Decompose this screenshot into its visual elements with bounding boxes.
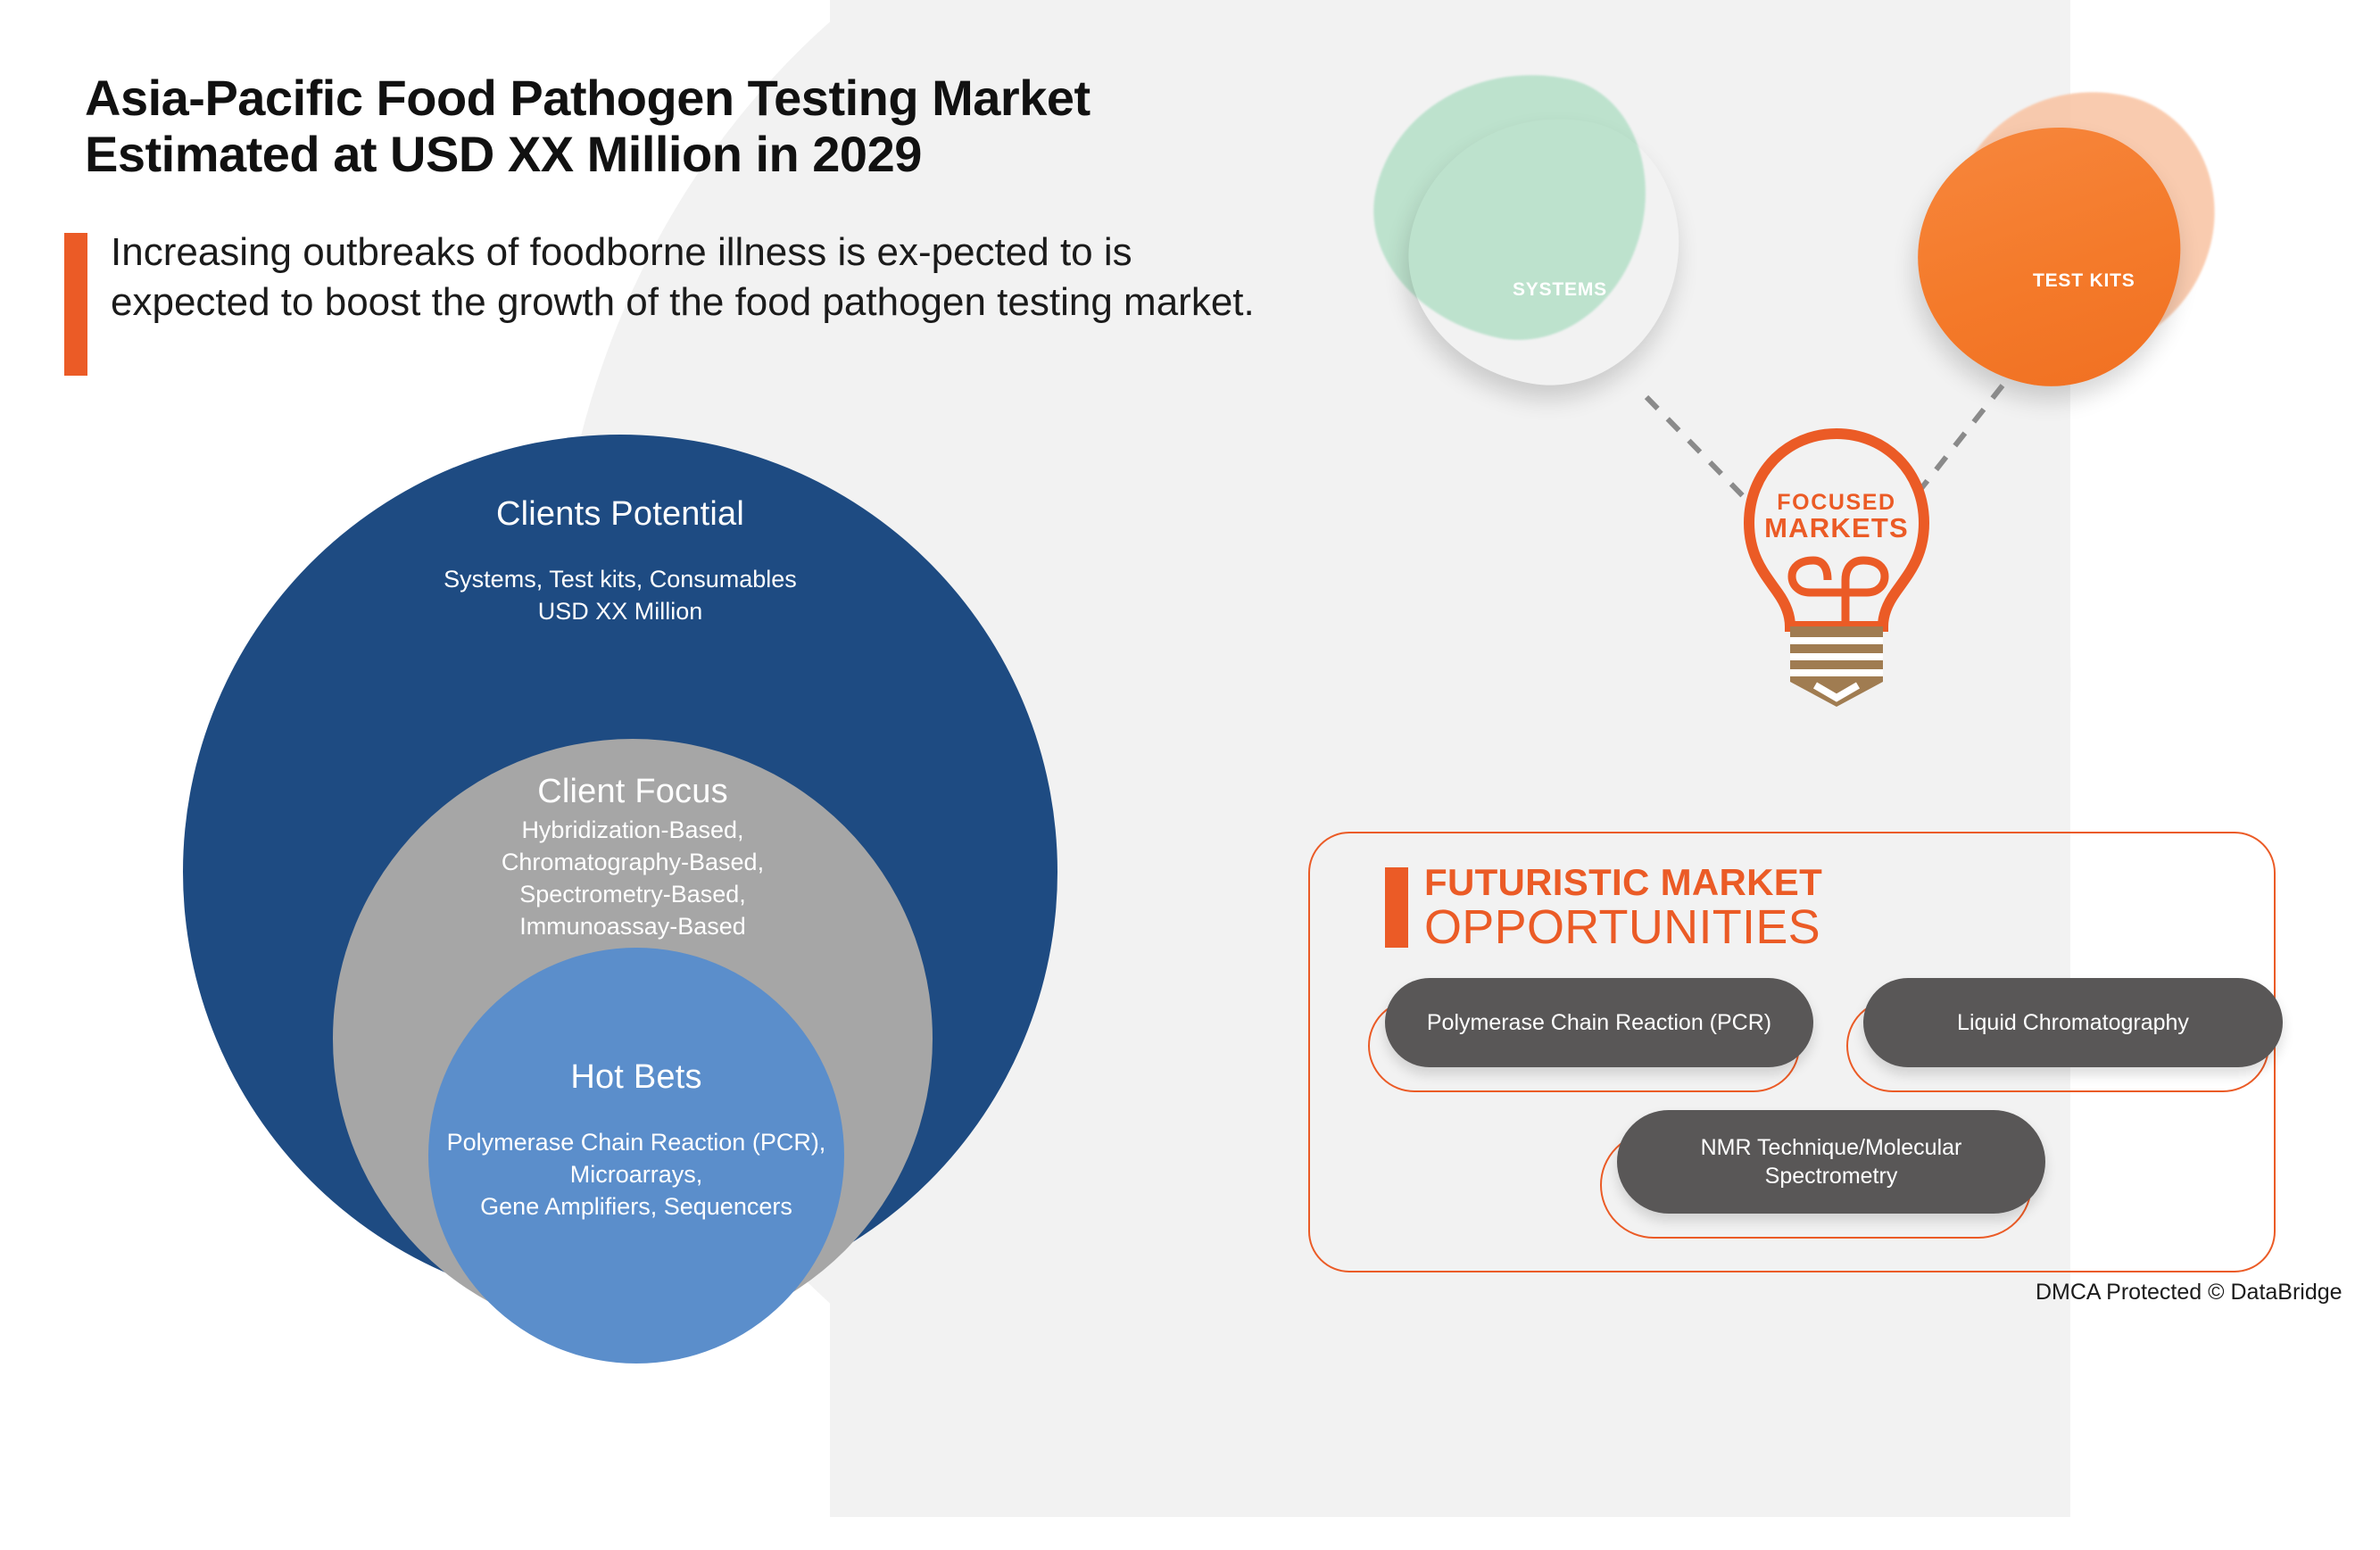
futuristic-opportunities-header: FUTURISTIC MARKET OPPORTUNITIES xyxy=(1385,864,1822,951)
pill-liquid-chromatography-label: Liquid Chromatography xyxy=(1957,1008,2189,1038)
clients-potential-label: Clients Potential Systems, Test kits, Co… xyxy=(183,495,1057,628)
footer-copyright: DMCA Protected © DataBridge xyxy=(2036,1280,2343,1305)
infographic-canvas: Asia-Pacific Food Pathogen Testing Marke… xyxy=(0,0,2380,1339)
pill-nmr-label: NMR Technique/MolecularSpectrometry xyxy=(1701,1133,1962,1191)
panel-title-line-2: OPPORTUNITIES xyxy=(1424,903,1822,951)
panel-accent-bar xyxy=(1385,867,1408,948)
subheading-accent-bar xyxy=(64,233,87,376)
subheading-text: Increasing outbreaks of foodborne illnes… xyxy=(111,228,1262,376)
hot-bets-label: Hot Bets Polymerase Chain Reaction (PCR)… xyxy=(428,1058,844,1223)
page-title-line-2: Estimated at USD XX Million in 2029 xyxy=(85,126,1530,182)
focused-markets-lightbulb: FOCUSED MARKETS xyxy=(1735,427,1938,712)
hot-bets-circle: Hot Bets Polymerase Chain Reaction (PCR)… xyxy=(428,948,844,1364)
clients-potential-body: Systems, Test kits, ConsumablesUSD XX Mi… xyxy=(183,564,1057,628)
hot-bets-title: Hot Bets xyxy=(428,1058,844,1097)
lightbulb-icon xyxy=(1735,427,1938,712)
client-focus-body: Hybridization-Based,Chromatography-Based… xyxy=(333,815,933,943)
subheading: Increasing outbreaks of foodborne illnes… xyxy=(64,228,1278,376)
pill-liquid-chromatography[interactable]: Liquid Chromatography xyxy=(1863,978,2283,1067)
test-kits-blob-label: TEST KITS xyxy=(2033,270,2135,292)
focused-markets-line-1: FOCUSED xyxy=(1735,491,1938,514)
clients-potential-title: Clients Potential xyxy=(183,495,1057,534)
panel-title-line-1: FUTURISTIC MARKET xyxy=(1424,864,1822,901)
focused-markets-line-2: MARKETS xyxy=(1735,514,1938,543)
client-focus-title: Client Focus xyxy=(333,773,933,811)
page-title-line-1: Asia-Pacific Food Pathogen Testing Marke… xyxy=(85,70,1530,126)
client-focus-label: Client Focus Hybridization-Based,Chromat… xyxy=(333,773,933,943)
panel-title-group: FUTURISTIC MARKET OPPORTUNITIES xyxy=(1424,864,1822,951)
focused-markets-text: FOCUSED MARKETS xyxy=(1735,491,1938,543)
pill-pcr-label: Polymerase Chain Reaction (PCR) xyxy=(1427,1008,1771,1038)
pill-pcr[interactable]: Polymerase Chain Reaction (PCR) xyxy=(1385,978,1813,1067)
pill-nmr[interactable]: NMR Technique/MolecularSpectrometry xyxy=(1617,1110,2045,1214)
lightbulb-filament xyxy=(1792,560,1885,626)
page-title: Asia-Pacific Food Pathogen Testing Marke… xyxy=(85,70,1530,183)
systems-blob-label: SYSTEMS xyxy=(1513,279,1607,301)
hot-bets-body: Polymerase Chain Reaction (PCR),Microarr… xyxy=(428,1127,844,1223)
